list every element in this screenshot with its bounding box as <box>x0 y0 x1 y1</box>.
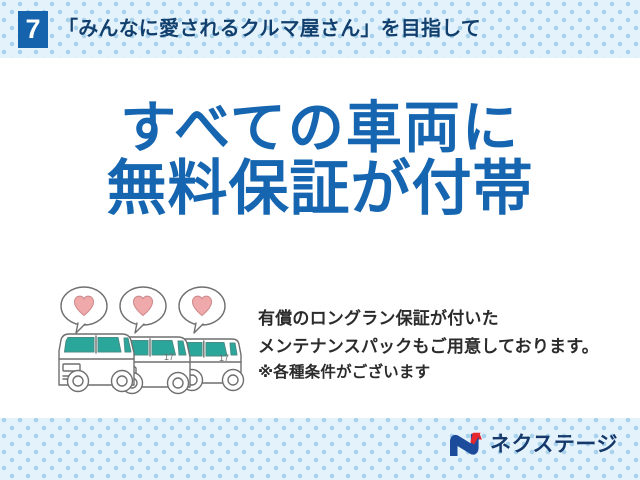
banner-footer: ネクステージ <box>0 418 640 480</box>
note-line-2: メンテナンスパックもご用意しております。 <box>258 333 638 361</box>
heart-bubble-2 <box>120 287 166 333</box>
svg-text:17: 17 <box>164 352 174 362</box>
brand-name: ネクステージ <box>490 432 618 458</box>
heart-bubble-3 <box>179 287 225 333</box>
note-block: 有償のロングラン保証が付いた メンテナンスパックもご用意しております。 ※各種条… <box>258 305 638 385</box>
svg-text:17: 17 <box>219 353 229 363</box>
headline-line-1: すべての車両に <box>0 98 640 157</box>
nextage-n-logo-icon <box>449 432 483 458</box>
lower-section: 17 <box>0 283 640 413</box>
car-kei-wagon <box>59 334 134 392</box>
header-title: 「みんなに愛されるクルマ屋さん」を目指して <box>58 14 481 44</box>
warranty-promo-banner: 7 「みんなに愛されるクルマ屋さん」を目指して すべての車両に 無料保証が付帯 <box>0 0 640 480</box>
content-card: すべての車両に 無料保証が付帯 <box>0 58 640 418</box>
headline-line-2: 無料保証が付帯 <box>0 157 640 221</box>
brand-logo: ネクステージ <box>449 430 618 460</box>
heart-bubble-1 <box>61 287 107 333</box>
three-cars-illustration: 17 <box>52 283 252 408</box>
note-line-3: ※各種条件がございます <box>258 360 638 385</box>
banner-header: 7 「みんなに愛されるクルマ屋さん」を目指して <box>0 0 640 58</box>
headline: すべての車両に 無料保証が付帯 <box>0 98 640 221</box>
section-number-badge: 7 <box>18 11 48 48</box>
cars-illustration-svg: 17 <box>52 283 252 408</box>
note-line-1: 有償のロングラン保証が付いた <box>258 305 638 333</box>
